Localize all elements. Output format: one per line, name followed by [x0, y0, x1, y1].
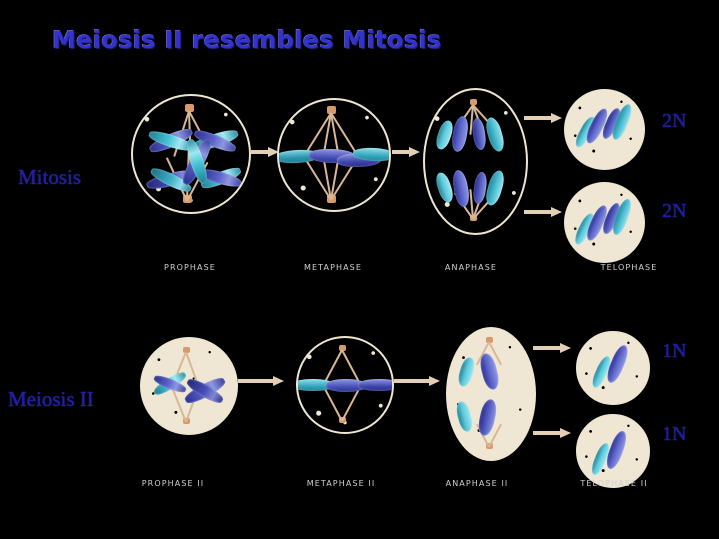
- cell-mitosis-telophase-daughter-2: [564, 182, 645, 263]
- arrow-anaphase2-to-telophase2-bottom: [533, 428, 571, 438]
- caption-mitosis-anaphase: ANAPHASE: [445, 263, 497, 272]
- slide-canvas: Meiosis II resembles Mitosis Mitosis Mei…: [0, 0, 719, 539]
- cell-meiosis2-telophase-daughter-1: [576, 331, 650, 405]
- arrow-metaphase2-to-anaphase2: [394, 376, 440, 386]
- caption-mitosis-telophase: TELOPHASE: [601, 263, 658, 272]
- arrow-prophase2-to-metaphase2: [238, 376, 284, 386]
- cell-meiosis2-telophase-daughter-2: [576, 414, 650, 488]
- page-title: Meiosis II resembles Mitosis: [52, 26, 442, 54]
- chromatid: [456, 356, 477, 388]
- cell-meiosis2-metaphase: [296, 336, 394, 434]
- caption-mitosis-prophase: PROPHASE: [164, 263, 216, 272]
- cell-mitosis-telophase-daughter-1: [564, 89, 645, 170]
- chromatid: [454, 400, 474, 433]
- caption-mitosis-metaphase: METAPHASE: [304, 263, 362, 272]
- arrow-prophase-to-metaphase: [251, 147, 279, 157]
- caption-meiosis2-telophase: TELOPHASE II: [580, 479, 647, 488]
- ploidy-label-meiosis2-1: 1N: [662, 340, 686, 363]
- chromatid: [483, 169, 506, 207]
- cell-meiosis2-anaphase: [446, 327, 536, 461]
- arrow-anaphase-to-telophase-top: [524, 113, 562, 123]
- cell-mitosis-metaphase: [277, 98, 391, 212]
- spindle-fiber: [172, 388, 187, 422]
- row-label-mitosis: Mitosis: [18, 165, 81, 190]
- cell-meiosis2-prophase: [140, 337, 238, 435]
- ploidy-label-meiosis2-2: 1N: [662, 423, 686, 446]
- cell-mitosis-anaphase: [423, 88, 528, 235]
- chromatid: [451, 169, 471, 208]
- row-label-meiosis-2: Meiosis II: [8, 387, 94, 412]
- chromatid: [450, 115, 470, 153]
- caption-meiosis2-metaphase: METAPHASE II: [307, 479, 376, 488]
- chromatid: [471, 117, 487, 150]
- arrow-anaphase-to-telophase-bottom: [524, 207, 562, 217]
- arrow-anaphase2-to-telophase2-top: [533, 343, 571, 353]
- ploidy-label-mitosis-2: 2N: [662, 200, 686, 223]
- chromatid: [483, 116, 506, 154]
- ploidy-label-mitosis-1: 2N: [662, 110, 686, 133]
- arrow-metaphase-to-anaphase: [392, 147, 420, 157]
- caption-meiosis2-anaphase: ANAPHASE II: [446, 479, 509, 488]
- cell-mitosis-prophase: [131, 94, 251, 214]
- chromatid: [434, 171, 456, 204]
- caption-meiosis2-prophase: PROPHASE II: [142, 479, 205, 488]
- chromosome: [358, 379, 394, 391]
